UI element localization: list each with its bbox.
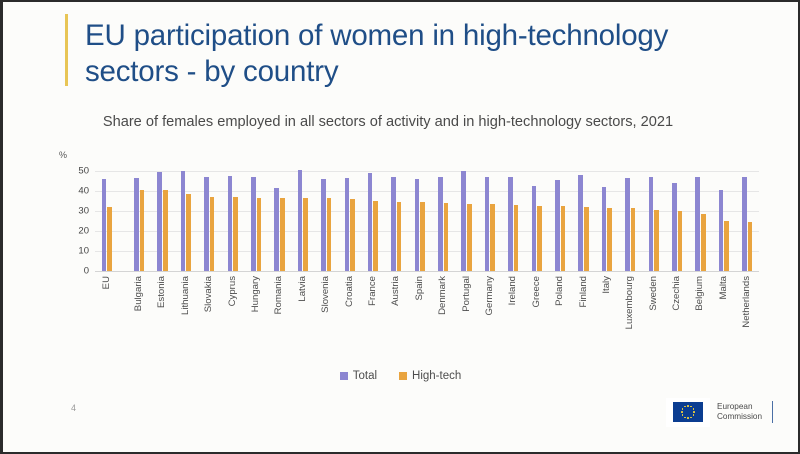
chart-legend: TotalHigh-tech	[3, 370, 798, 382]
bar-total	[157, 172, 162, 271]
x-axis-label: EU	[102, 276, 112, 289]
bar-high-tech	[303, 198, 308, 271]
bar-high-tech	[140, 190, 145, 271]
bar-group	[712, 171, 735, 271]
bar-group	[151, 171, 174, 271]
x-axis-label-slot: Poland	[548, 274, 571, 366]
x-axis-label: Denmark	[438, 276, 448, 315]
bar-group	[642, 171, 665, 271]
bar-total	[134, 178, 139, 271]
x-axis-label: Slovenia	[321, 276, 331, 313]
bar-total	[391, 177, 396, 271]
eu-flag-star	[693, 414, 695, 416]
x-axis-label: Hungary	[251, 276, 261, 312]
bar-total	[102, 179, 107, 271]
gridline	[95, 271, 759, 272]
bar-group	[198, 171, 221, 271]
bar-group	[244, 171, 267, 271]
bar-high-tech	[107, 207, 112, 271]
x-axis-label: Spain	[415, 276, 425, 301]
bar-total	[578, 175, 583, 271]
x-axis-label: Cyprus	[228, 276, 238, 306]
x-axis-label-slot: Slovenia	[315, 274, 338, 366]
bar-group	[127, 171, 150, 271]
bar-group	[525, 171, 548, 271]
bar-total	[532, 186, 537, 271]
bar-high-tech	[490, 204, 495, 271]
x-axis-label-slot: Germany	[478, 274, 501, 366]
eu-flag-star	[693, 408, 695, 410]
x-axis-label: Croatia	[345, 276, 355, 307]
bar-total	[625, 178, 630, 271]
x-axis-label: Luxembourg	[625, 276, 635, 329]
eu-flag-star	[690, 406, 692, 408]
x-axis-label-slot: Portugal	[455, 274, 478, 366]
bar-total	[298, 170, 303, 271]
bar-high-tech	[678, 211, 683, 271]
y-axis-tick-label: 50	[59, 166, 89, 177]
bar-total	[345, 178, 350, 271]
bar-total	[321, 179, 326, 271]
x-axis-label: Italy	[602, 276, 612, 294]
bar-total	[251, 177, 256, 271]
bar-group	[455, 171, 478, 271]
y-axis-tick-label: 30	[59, 206, 89, 217]
bar-total	[602, 187, 607, 271]
eu-flag-star	[684, 417, 686, 419]
bar-total	[204, 177, 209, 271]
bar-high-tech	[327, 198, 332, 271]
bar-group	[95, 171, 118, 271]
page-title: EU participation of women in high-techno…	[85, 18, 685, 90]
x-axis-label: Germany	[485, 276, 495, 315]
bar-group	[595, 171, 618, 271]
bar-high-tech	[631, 208, 636, 271]
x-axis-label: Estonia	[157, 276, 167, 308]
bar-group	[572, 171, 595, 271]
x-axis-label: France	[368, 276, 378, 306]
x-axis-label-slot: Hungary	[244, 274, 267, 366]
bar-group	[548, 171, 571, 271]
bar-group	[385, 171, 408, 271]
x-axis-label-slot: Lithuania	[174, 274, 197, 366]
eu-flag-star	[687, 405, 689, 407]
x-axis-label-slot: Finland	[572, 274, 595, 366]
x-axis-label: Finland	[579, 276, 589, 307]
bar-group	[361, 171, 384, 271]
x-axis-label: Greece	[532, 276, 542, 307]
bar-total	[415, 179, 420, 271]
x-axis-label-slot: Belgium	[689, 274, 712, 366]
legend-item[interactable]: High-tech	[399, 370, 461, 382]
bar-high-tech	[654, 210, 659, 271]
legend-swatch-icon	[340, 372, 348, 380]
eu-flag-star	[687, 417, 689, 419]
title-accent-bar	[65, 14, 68, 86]
x-axis-label-slot: Spain	[408, 274, 431, 366]
bar-high-tech	[701, 214, 706, 271]
x-axis-label-slot: Croatia	[338, 274, 361, 366]
x-axis-label-slot: Latvia	[291, 274, 314, 366]
bar-high-tech	[748, 222, 753, 271]
x-axis-label: Romania	[274, 276, 284, 314]
x-axis-label-slot: Denmark	[431, 274, 454, 366]
x-axis-label-slot: Austria	[385, 274, 408, 366]
x-axis-label: Belgium	[695, 276, 705, 311]
bar-group	[689, 171, 712, 271]
eu-flag-star	[682, 408, 684, 410]
x-axis-label: Malta	[719, 276, 729, 299]
y-axis-tick-label: 20	[59, 226, 89, 237]
y-axis-tick-label: 10	[59, 246, 89, 257]
bar-total	[508, 177, 513, 271]
x-axis-label: Bulgaria	[134, 276, 144, 311]
bar-high-tech	[397, 202, 402, 271]
bar-total	[555, 180, 560, 271]
x-axis-label-slot: Malta	[712, 274, 735, 366]
x-axis-label-slot: Luxembourg	[619, 274, 642, 366]
bar-high-tech	[163, 190, 168, 271]
bar-total	[274, 188, 279, 271]
bar-total	[438, 177, 443, 271]
eu-flag-star	[693, 411, 695, 413]
bar-total	[228, 176, 233, 271]
bar-group	[665, 171, 688, 271]
x-axis-label: Slovakia	[204, 276, 214, 312]
bar-high-tech	[584, 207, 589, 271]
bar-group	[502, 171, 525, 271]
y-axis-unit-label: %	[59, 150, 67, 160]
bar-high-tech	[257, 198, 262, 271]
x-axis-label-slot: EU	[95, 274, 118, 366]
x-axis-label-slot: Romania	[268, 274, 291, 366]
x-axis-label-slot: Czechia	[665, 274, 688, 366]
chart-subtitle: Share of females employed in all sectors…	[98, 112, 678, 133]
eu-flag-star	[681, 411, 683, 413]
bar-high-tech	[607, 208, 612, 271]
bar-group	[431, 171, 454, 271]
bar-high-tech	[561, 206, 566, 271]
x-axis-label-slot: France	[361, 274, 384, 366]
x-axis-labels: EUBulgariaEstoniaLithuaniaSlovakiaCyprus…	[95, 274, 759, 366]
bar-high-tech	[724, 221, 729, 271]
x-axis-label-slot: Ireland	[502, 274, 525, 366]
x-axis-label: Austria	[391, 276, 401, 306]
slide-page-number: 4	[71, 403, 76, 413]
x-axis-label-slot: Cyprus	[221, 274, 244, 366]
bar-total	[719, 190, 724, 271]
bar-total	[485, 177, 490, 271]
bar-group	[408, 171, 431, 271]
presentation-slide: EU participation of women in high-techno…	[3, 2, 798, 452]
european-commission-logo: European Commission	[666, 397, 784, 427]
bar-high-tech	[233, 197, 238, 271]
bar-high-tech	[186, 194, 191, 271]
bar-high-tech	[537, 206, 542, 271]
bar-group	[291, 171, 314, 271]
bar-total	[461, 171, 466, 271]
legend-label: Total	[353, 370, 377, 382]
bar-group	[736, 171, 759, 271]
x-axis-label-slot: Netherlands	[736, 274, 759, 366]
x-axis-label: Czechia	[672, 276, 682, 311]
bar-group	[619, 171, 642, 271]
x-axis-label: Portugal	[462, 276, 472, 312]
bar-total	[672, 183, 677, 271]
x-axis-label-slot: Slovakia	[198, 274, 221, 366]
bar-high-tech	[373, 201, 378, 271]
x-axis-label-slot: Greece	[525, 274, 548, 366]
bar-groups	[95, 171, 759, 271]
eu-flag-star	[690, 417, 692, 419]
bar-high-tech	[420, 202, 425, 271]
bar-total	[368, 173, 373, 271]
y-axis-tick-label: 0	[59, 266, 89, 277]
x-axis-label-slot: Bulgaria	[127, 274, 150, 366]
bar-total	[695, 177, 700, 271]
x-axis-label-slot: Italy	[595, 274, 618, 366]
eu-flag-star	[682, 414, 684, 416]
eu-flag-icon	[666, 398, 710, 427]
bar-group	[478, 171, 501, 271]
bar-high-tech	[350, 199, 355, 271]
x-axis-label-slot: Estonia	[151, 274, 174, 366]
plot-area	[95, 171, 759, 271]
bar-group	[221, 171, 244, 271]
x-axis-label: Latvia	[298, 276, 308, 302]
logo-divider	[772, 401, 773, 423]
legend-label: High-tech	[412, 370, 461, 382]
x-axis-label: Sweden	[649, 276, 659, 311]
bar-chart: % 01020304050	[59, 150, 759, 290]
bar-high-tech	[210, 197, 215, 271]
bar-total	[181, 171, 186, 271]
organisation-line-1: European	[717, 402, 762, 412]
x-axis-label: Ireland	[508, 276, 518, 305]
x-axis-label: Lithuania	[181, 276, 191, 315]
bar-high-tech	[514, 205, 519, 271]
eu-flag-star	[684, 406, 686, 408]
bar-high-tech	[444, 203, 449, 271]
organisation-name: European Commission	[717, 402, 762, 422]
bar-high-tech	[467, 204, 472, 271]
bar-total	[742, 177, 747, 271]
bar-high-tech	[280, 198, 285, 271]
legend-swatch-icon	[399, 372, 407, 380]
bar-total	[649, 177, 654, 271]
bar-group	[338, 171, 361, 271]
x-axis-label: Netherlands	[742, 276, 752, 328]
x-axis-label: Poland	[555, 276, 565, 306]
bar-group	[315, 171, 338, 271]
legend-item[interactable]: Total	[340, 370, 377, 382]
bar-group	[174, 171, 197, 271]
y-axis-tick-label: 40	[59, 186, 89, 197]
bar-group	[268, 171, 291, 271]
organisation-line-2: Commission	[717, 412, 762, 422]
eu-flag-field	[673, 402, 703, 422]
x-axis-label-slot: Sweden	[642, 274, 665, 366]
